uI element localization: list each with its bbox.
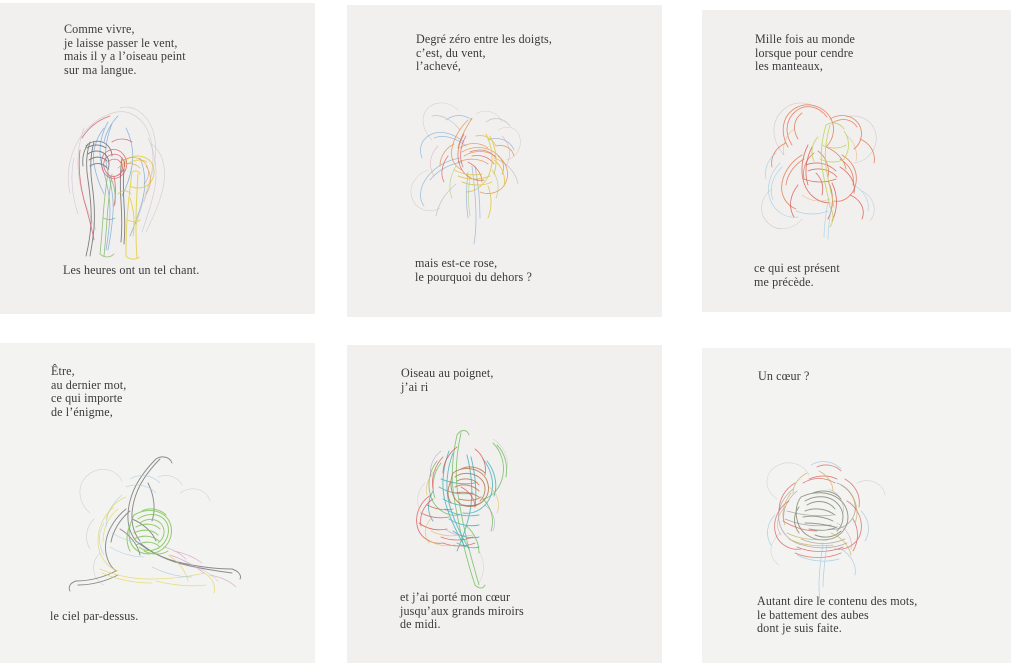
poem-panel-6: Un cœur ?	[702, 348, 1011, 663]
panel-2-top-poem: Degré zéro entre les doigts, c’est, du v…	[416, 33, 552, 74]
panel-6-bottom-poem: Autant dire le contenu des mots, le batt…	[757, 595, 917, 636]
panel-6-top-poem: Un cœur ?	[758, 370, 809, 384]
poem-panel-grid: Comme vivre, je laisse passer le vent, m…	[0, 0, 1011, 663]
scribble-drawing-5	[397, 395, 547, 595]
panel-1-bottom-poem: Les heures ont un tel chant.	[63, 264, 199, 278]
scribble-drawing-4	[60, 423, 260, 608]
panel-1-top-poem: Comme vivre, je laisse passer le vent, m…	[64, 23, 186, 78]
poem-panel-3: Mille fois au monde lorsque pour cendre …	[702, 10, 1011, 312]
poem-panel-5: Oiseau au poignet, j’ai ri	[347, 345, 662, 663]
panel-5-bottom-poem: et j’ai porté mon cœur jusqu’aux grands …	[400, 591, 524, 632]
poem-panel-1: Comme vivre, je laisse passer le vent, m…	[0, 3, 315, 314]
panel-3-bottom-poem: ce qui est présent me précède.	[754, 262, 840, 289]
panel-3-top-poem: Mille fois au monde lorsque pour cendre …	[755, 33, 855, 74]
poem-panel-2: Degré zéro entre les doigts, c’est, du v…	[347, 5, 662, 317]
panel-5-top-poem: Oiseau au poignet, j’ai ri	[401, 367, 494, 394]
scribble-drawing-3	[742, 95, 902, 245]
panel-2-bottom-poem: mais est-ce rose, le pourquoi du dehors …	[415, 257, 532, 284]
poem-panel-4: Être, au dernier mot, ce qui importe de …	[0, 343, 315, 663]
panel-4-bottom-poem: le ciel par-dessus.	[50, 610, 138, 624]
panel-4-top-poem: Être, au dernier mot, ce qui importe de …	[51, 365, 126, 420]
scribble-drawing-1	[60, 98, 180, 263]
scribble-drawing-2	[402, 100, 542, 245]
scribble-drawing-6	[737, 423, 917, 603]
